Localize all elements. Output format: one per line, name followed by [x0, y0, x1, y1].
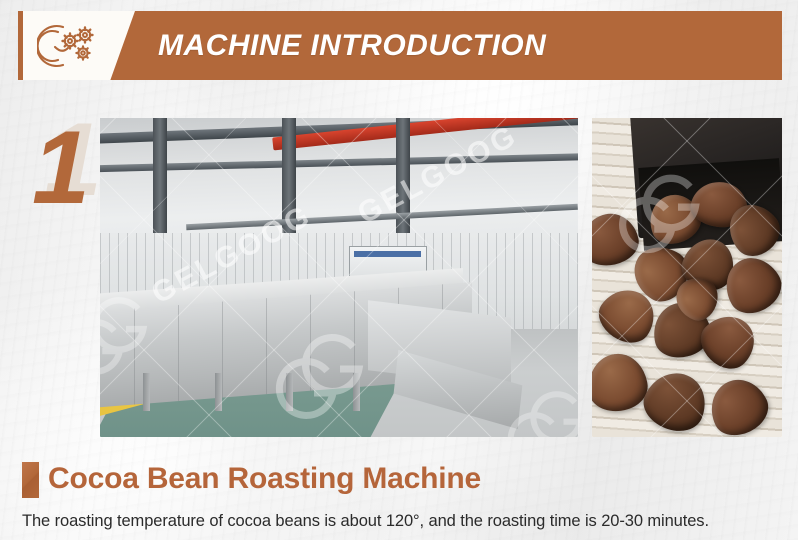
gears-icon	[37, 21, 99, 71]
section-header-bar: MACHINE INTRODUCTION	[18, 11, 782, 80]
section-number: 1 1	[30, 108, 102, 220]
section-number-front: 1	[32, 112, 90, 224]
cocoa-beans-photo	[592, 118, 782, 437]
product-description: The roasting temperature of cocoa beans …	[22, 512, 709, 531]
header-icon-container	[23, 11, 135, 80]
page-title: MACHINE INTRODUCTION	[158, 11, 546, 80]
gelgoog-g-logo-icon	[618, 156, 738, 261]
gelgoog-g-logo-icon	[275, 313, 405, 428]
product-title: Cocoa Bean Roasting Machine	[48, 458, 481, 500]
title-accent-bar	[22, 462, 39, 498]
gelgoog-g-logo-icon	[506, 373, 578, 437]
gelgoog-g-logo-icon	[100, 278, 186, 383]
machine-photo: GELGOOG GELGOOG	[100, 118, 578, 437]
